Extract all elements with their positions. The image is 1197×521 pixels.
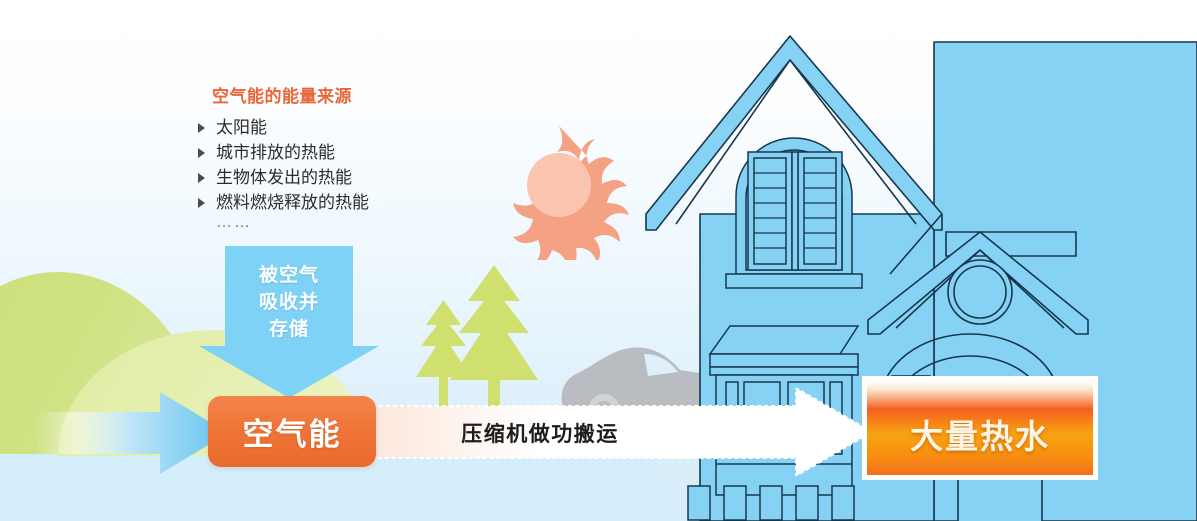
page-title: 空气能的能量来源 xyxy=(212,82,496,107)
list-item: 城市排放的热能 xyxy=(196,141,496,165)
energy-sources-list: 太阳能 城市排放的热能 生物体发出的热能 燃料燃烧释放的热能 xyxy=(196,116,496,215)
intake-arrow xyxy=(38,390,228,476)
list-ellipsis: …… xyxy=(216,214,496,232)
triangle-bullet-icon xyxy=(198,198,205,208)
energy-sources-block: 空气能的能量来源 太阳能 城市排放的热能 生物体发出的热能 燃料燃烧释放的热能 … xyxy=(196,82,496,232)
list-item: 燃料燃烧释放的热能 xyxy=(196,191,496,215)
list-item-label: 太阳能 xyxy=(216,118,267,137)
list-item-label: 生物体发出的热能 xyxy=(216,168,352,187)
list-item-label: 燃料燃烧释放的热能 xyxy=(216,193,369,212)
infographic-canvas: 被空气 吸收并 存储 空气能的能量来源 太阳能 城市排放的热能 生物体发出的热能… xyxy=(0,0,1197,521)
hot-water-box[interactable]: 大量热水 xyxy=(862,376,1098,480)
triangle-bullet-icon xyxy=(198,148,205,158)
triangle-bullet-icon xyxy=(198,173,205,183)
hot-water-label: 大量热水 xyxy=(910,410,1050,458)
air-energy-label: 空气能 xyxy=(243,409,342,454)
list-item: 太阳能 xyxy=(196,116,496,140)
triangle-bullet-icon xyxy=(198,123,205,133)
list-item: 生物体发出的热能 xyxy=(196,166,496,190)
list-item-label: 城市排放的热能 xyxy=(216,143,335,162)
absorb-arrow: 被空气 吸收并 存储 xyxy=(199,246,379,398)
air-energy-box[interactable]: 空气能 xyxy=(208,396,376,467)
sun-icon xyxy=(484,110,634,260)
transport-arrow-label: 压缩机做功搬运 xyxy=(425,418,655,448)
